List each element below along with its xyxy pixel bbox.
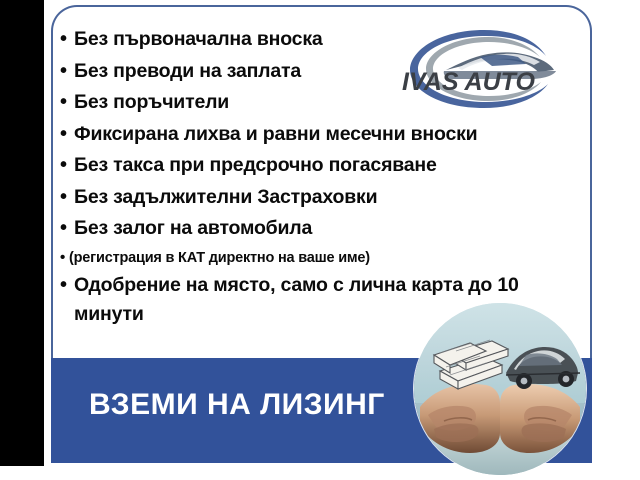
benefits-list: • Без първоначална вноска • Без преводи … xyxy=(60,24,590,329)
benefit-text: Без поръчители xyxy=(74,87,229,119)
left-letterbox-bar xyxy=(0,0,44,466)
bullet-icon: • xyxy=(60,245,69,271)
bullet-icon: • xyxy=(60,213,74,245)
advertisement-slide: IVAS AUTO • Без първоначална вноска • Бе… xyxy=(0,0,640,480)
benefit-text: Без задължителни Застраховки xyxy=(74,182,377,214)
bullet-icon: • xyxy=(60,87,74,119)
list-item: • Без залог на автомобила xyxy=(60,213,590,245)
bullet-icon: • xyxy=(60,24,74,56)
list-item: • Без задължителни Застраховки xyxy=(60,182,590,214)
list-item: • Фиксирана лихва и равни месечни вноски xyxy=(60,119,590,151)
list-item-note: • (регистрация в КАТ директно на ваше им… xyxy=(60,245,590,271)
list-item: • Без поръчители xyxy=(60,87,590,119)
car-sketch xyxy=(506,347,580,389)
bullet-icon: • xyxy=(60,271,74,300)
list-item: • Без такса при предсрочно погасяване xyxy=(60,150,590,182)
stack-of-money xyxy=(434,341,508,389)
bullet-icon: • xyxy=(60,56,74,88)
bullet-icon: • xyxy=(60,150,74,182)
benefit-text: Без такса при предсрочно погасяване xyxy=(74,150,437,182)
bullet-icon: • xyxy=(60,119,74,151)
hands-holding-money-and-car-photo xyxy=(414,303,586,475)
benefit-text: Без залог на автомобила xyxy=(74,213,312,245)
list-item: • Без преводи на заплата xyxy=(60,56,590,88)
benefit-text: Без първоначална вноска xyxy=(74,24,323,56)
banner-headline: ВЗЕМИ НА ЛИЗИНГ xyxy=(89,388,385,422)
benefit-note-text: (регистрация в КАТ директно на ваше име) xyxy=(69,245,370,271)
list-item: • Без първоначална вноска xyxy=(60,24,590,56)
left-letterbox-bottom-gap xyxy=(0,466,44,480)
benefit-text: Без преводи на заплата xyxy=(74,56,301,88)
bullet-icon: • xyxy=(60,182,74,214)
benefit-text: Фиксирана лихва и равни месечни вноски xyxy=(74,119,477,151)
